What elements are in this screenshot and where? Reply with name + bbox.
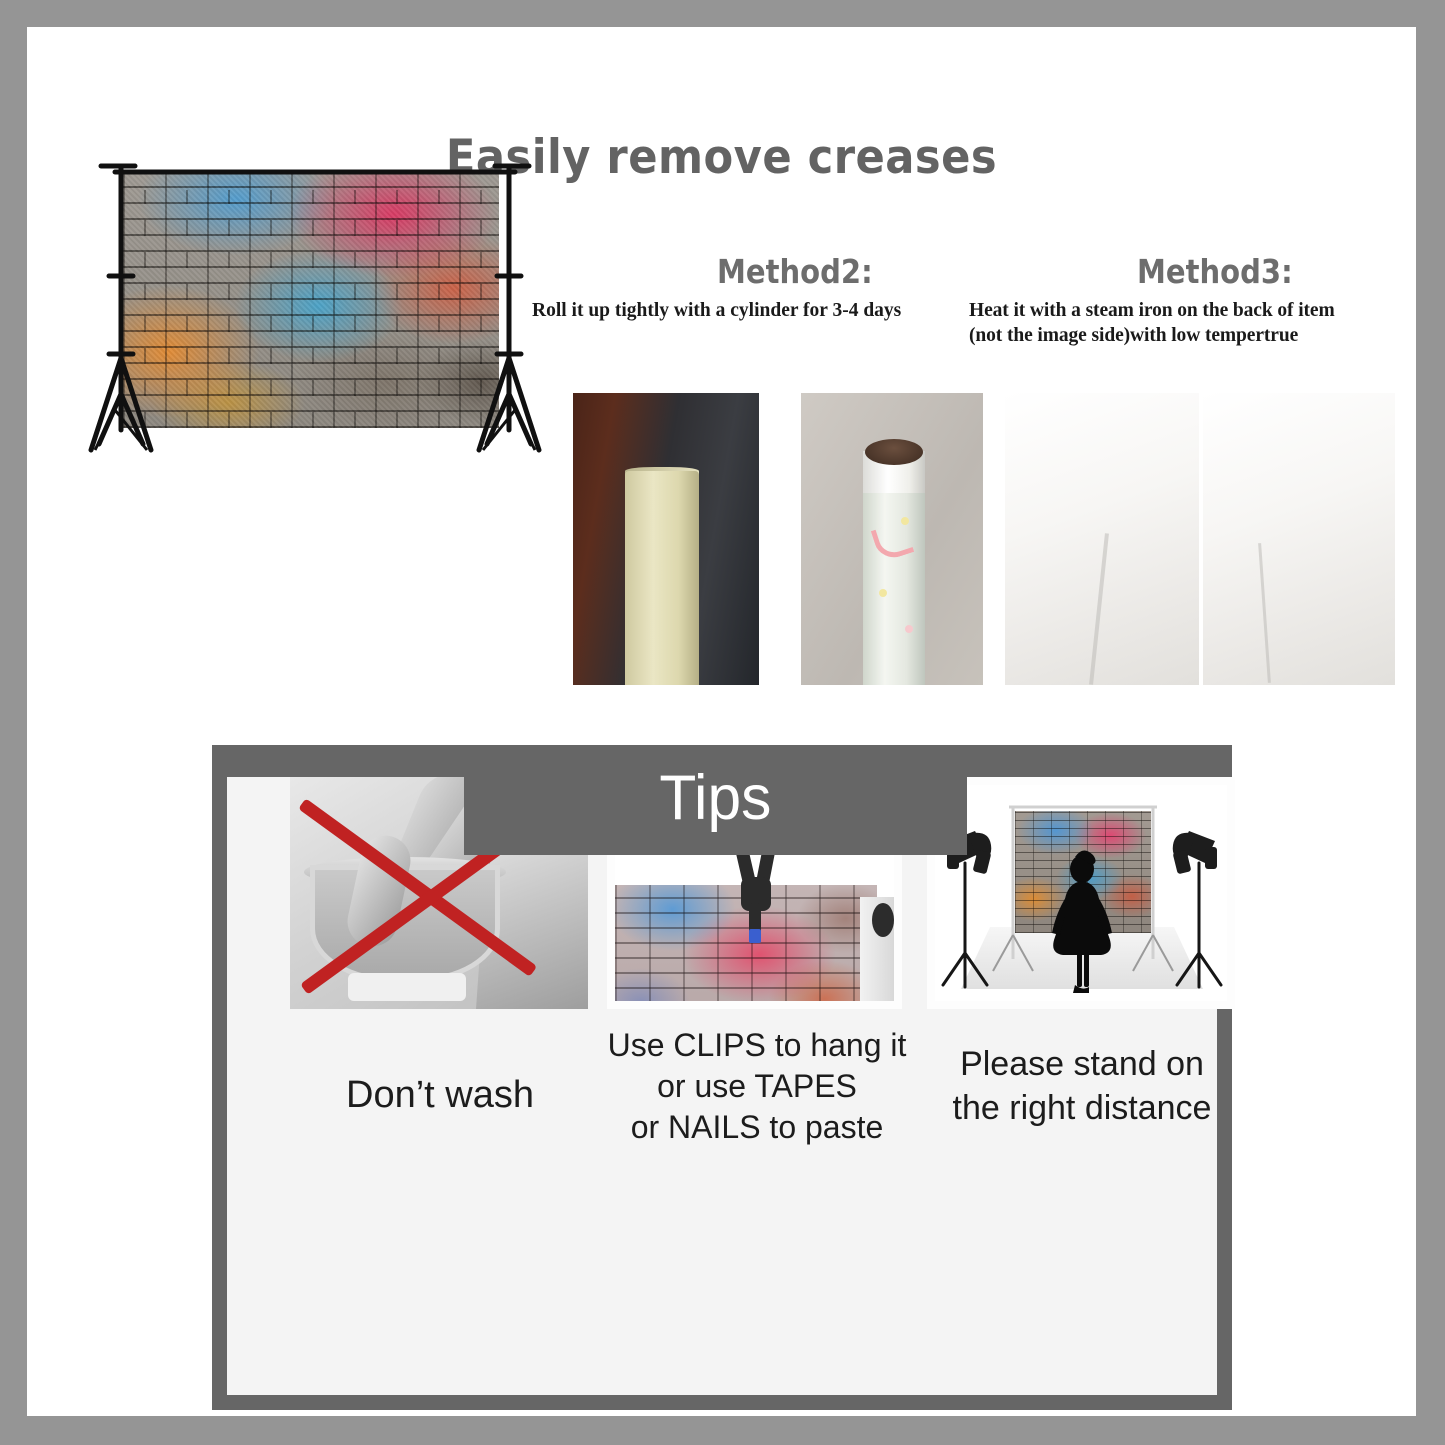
- tube-dot-3: [905, 625, 913, 633]
- studio-equipment-illustration: [935, 785, 1229, 1001]
- tips-row: Don’t wash: [227, 777, 1217, 1397]
- method-3-heading: Method3:: [1137, 255, 1350, 290]
- tube-opening: [865, 439, 923, 465]
- basin-stand: [348, 973, 466, 1001]
- method-3-line-1: Heat it with a steam iron on the back of…: [969, 299, 1369, 324]
- tip-caption-use-clips: Use CLIPS to hang it or use TAPES or NAI…: [607, 1025, 907, 1148]
- backdrop-stand-frame-icon: [85, 158, 545, 473]
- tip-caption-right-distance: Please stand on the right distance: [927, 1043, 1237, 1130]
- infographic-page: Easily remove creases Method1: you can h…: [27, 27, 1416, 1416]
- steamer-on-fabric-photo-right: [1203, 393, 1395, 685]
- tip-3-line-1: Please stand on: [927, 1043, 1237, 1087]
- tip-card-right-distance: Please stand on the right distance: [927, 777, 1237, 1130]
- backdrop-stand-photo: [85, 158, 545, 473]
- roller-end-cap: [872, 903, 894, 937]
- tip-3-line-2: the right distance: [927, 1087, 1237, 1131]
- white-fabric-background-right: [1203, 393, 1395, 685]
- tube-dot-2: [879, 589, 887, 597]
- tip-photo-studio-setup: [927, 777, 1235, 1009]
- girl-silhouette: [1052, 850, 1112, 993]
- tips-panel: Don’t wash: [212, 745, 1232, 1410]
- tip-2-line-2: or use TAPES: [607, 1066, 907, 1107]
- tip-1-line-1: Don’t wash: [290, 1071, 590, 1120]
- method-3-description: Heat it with a steam iron on the back of…: [969, 299, 1369, 349]
- method-2-line-1: Roll it up tightly with a cylinder for 3…: [532, 299, 972, 324]
- steamer-on-fabric-photo-left: [1005, 393, 1199, 685]
- tips-tab-header: Tips: [464, 745, 967, 855]
- method-2-block: Method2: Roll it up tightly with a cylin…: [527, 255, 977, 324]
- white-fabric-background-left: [1005, 393, 1199, 685]
- cardboard-cylinder-photo: [801, 393, 983, 685]
- clamp-tip: [749, 929, 761, 943]
- tip-2-line-3: or NAILS to paste: [607, 1107, 907, 1148]
- tips-tab-label: Tips: [659, 767, 771, 830]
- method-3-line-2: (not the image side)with low tempertrue: [969, 324, 1369, 349]
- rolled-backdrop-cylinder: [625, 471, 699, 685]
- method-2-heading: Method2:: [717, 255, 946, 290]
- tip-caption-dont-wash: Don’t wash: [290, 1071, 590, 1120]
- tube-dot-1: [901, 517, 909, 525]
- rolled-backdrop-on-tube-photo: [573, 393, 759, 685]
- tips-panel-inner: Don’t wash: [227, 777, 1217, 1395]
- method-2-description: Roll it up tightly with a cylinder for 3…: [532, 299, 972, 324]
- tip-2-line-1: Use CLIPS to hang it: [607, 1025, 907, 1066]
- method-3-block: Method3: Heat it with a steam iron on th…: [969, 255, 1379, 349]
